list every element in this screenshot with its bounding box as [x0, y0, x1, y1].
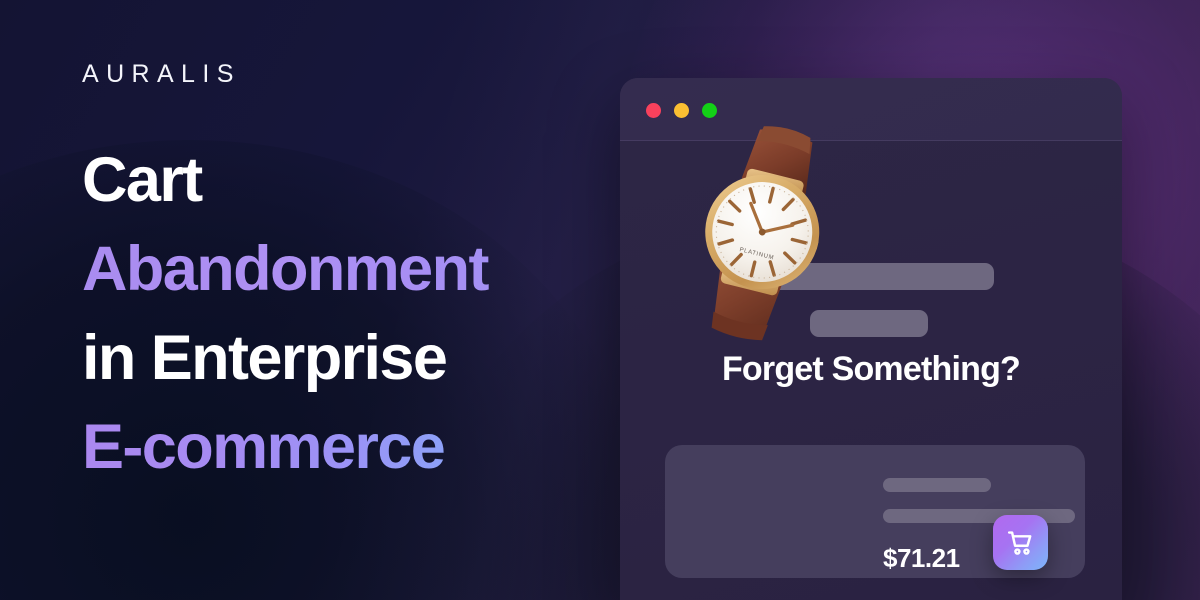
traffic-light-group: [646, 103, 717, 118]
product-desc-placeholder-bar: [883, 509, 1075, 523]
brand-logo: AURALIS: [82, 62, 241, 87]
maximize-window-icon[interactable]: [702, 103, 717, 118]
add-to-cart-button[interactable]: [993, 515, 1048, 570]
promo-title: Forget Something?: [620, 350, 1122, 389]
close-window-icon[interactable]: [646, 103, 661, 118]
minimize-window-icon[interactable]: [674, 103, 689, 118]
headline-line-4: E-commerce: [82, 403, 602, 492]
headline-line-3: in Enterprise: [82, 314, 602, 403]
shopping-cart-icon: [1005, 527, 1036, 558]
page-title: Cart Abandonment in Enterprise E-commerc…: [82, 136, 602, 492]
wristwatch-product-image: PLATINUM: [678, 125, 846, 341]
headline-line-2: Abandonment: [82, 225, 602, 314]
product-price: $71.21: [883, 543, 960, 574]
browser-window-mockup: Forget Something? $71.21: [620, 78, 1122, 600]
product-name-placeholder-bar: [883, 478, 991, 492]
hero-text-column: AURALIS Cart Abandonment in Enterprise E…: [82, 0, 602, 600]
headline-line-1: Cart: [82, 136, 602, 225]
slide-canvas: AURALIS Cart Abandonment in Enterprise E…: [0, 0, 1200, 600]
